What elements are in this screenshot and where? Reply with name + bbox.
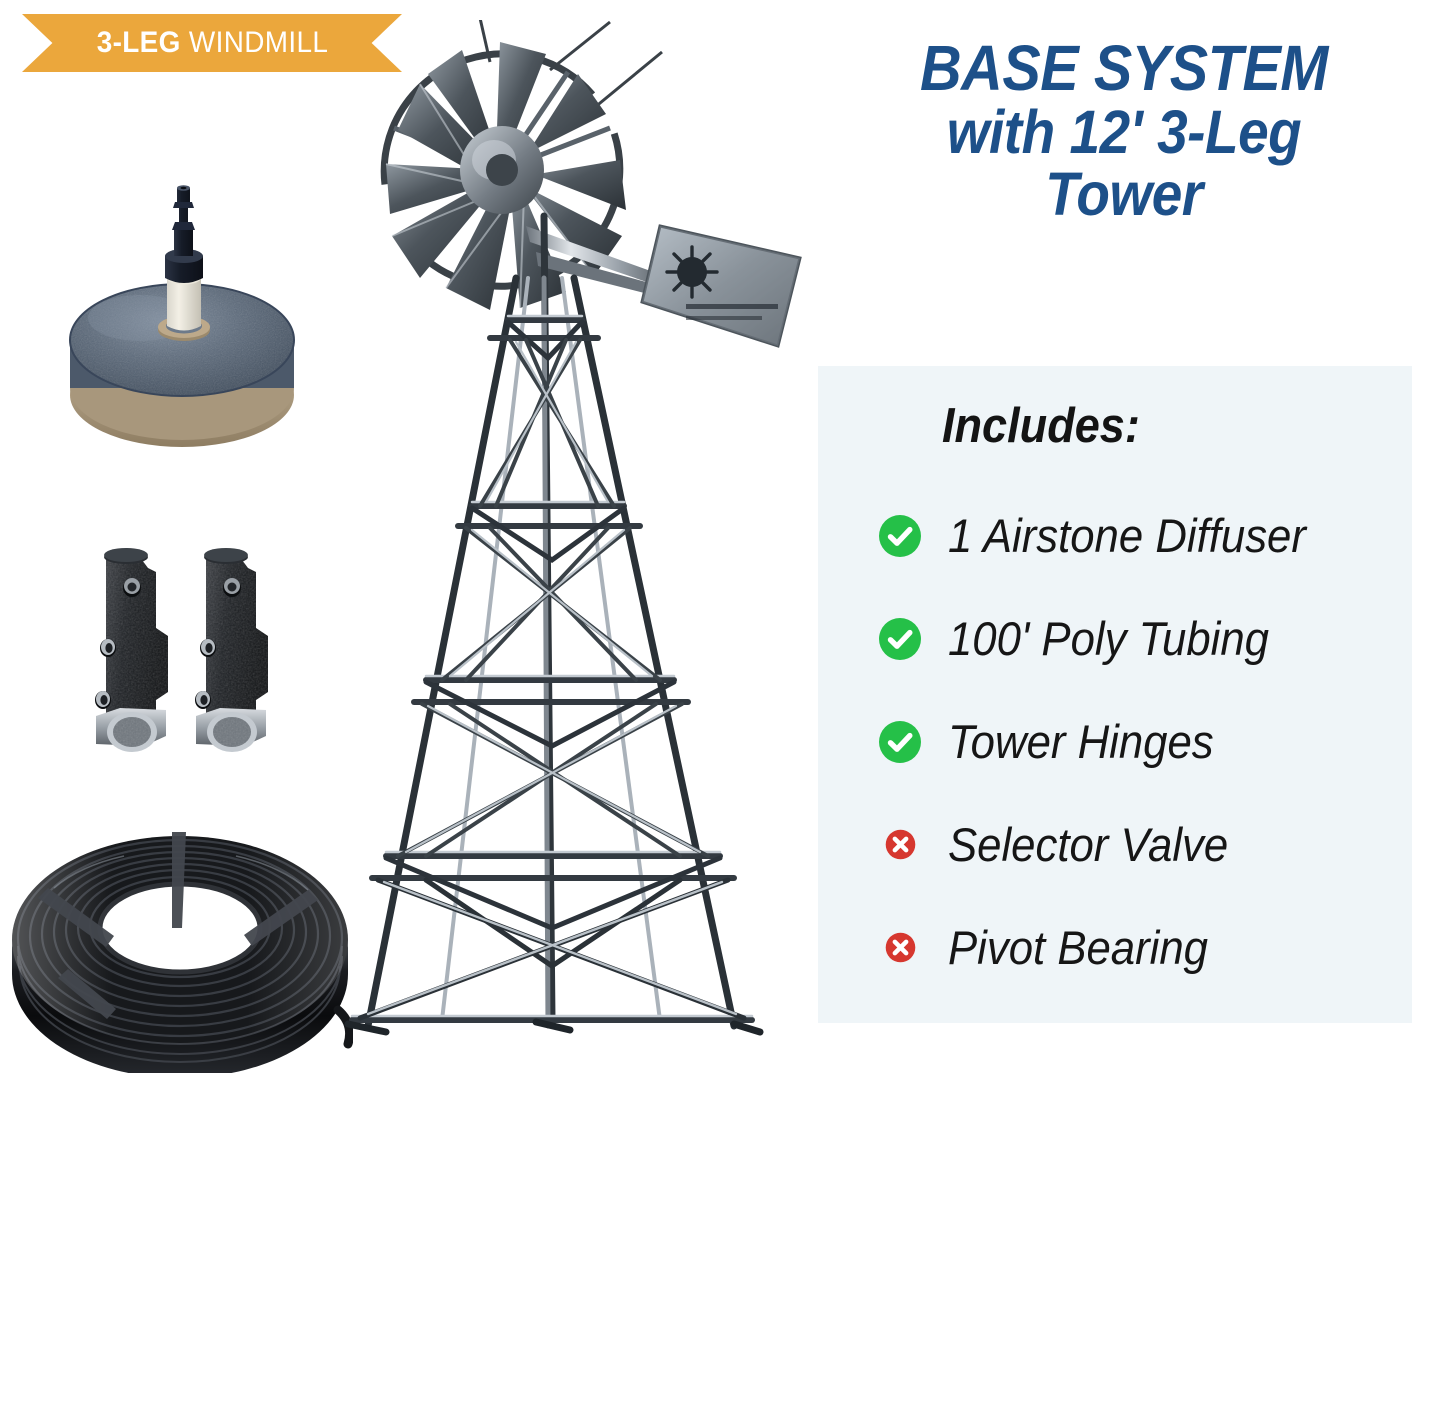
page-title-line-3: Tower xyxy=(850,163,1397,225)
badge-prefix: 3-LEG xyxy=(96,26,180,59)
poly-tubing-coil-photo xyxy=(8,828,353,1073)
product-type-badge-label: 3-LEG WINDMILL xyxy=(96,26,328,60)
x-circle-icon xyxy=(885,829,916,860)
badge-suffix: WINDMILL xyxy=(188,26,327,59)
list-item-label: 100' Poly Tubing xyxy=(948,615,1269,662)
windmill-tower-photo xyxy=(330,20,830,1080)
check-circle-icon xyxy=(878,514,922,558)
tower-hinges-photo xyxy=(70,540,300,770)
list-item-label: Tower Hinges xyxy=(948,718,1214,765)
page-title-line-2: with 12' 3-Leg xyxy=(850,101,1397,163)
includes-list: 1 Airstone Diffuser 100' Poly Tubing Tow… xyxy=(818,484,1412,999)
list-item-label: Pivot Bearing xyxy=(948,924,1208,971)
airstone-diffuser-photo xyxy=(32,160,332,480)
list-item: 1 Airstone Diffuser xyxy=(818,484,1412,587)
list-item-label: Selector Valve xyxy=(948,821,1228,868)
list-item: Selector Valve xyxy=(818,793,1412,896)
list-item: Tower Hinges xyxy=(818,690,1412,793)
page-title: BASE SYSTEM with 12' 3-Leg Tower xyxy=(820,36,1428,226)
list-item-label: 1 Airstone Diffuser xyxy=(948,512,1306,559)
check-circle-icon xyxy=(878,720,922,764)
includes-panel: Includes: 1 Airstone Diffuser 100' Poly … xyxy=(818,366,1412,1023)
check-circle-icon xyxy=(878,617,922,661)
list-item: Pivot Bearing xyxy=(818,896,1412,999)
page-title-line-1: BASE SYSTEM xyxy=(850,36,1397,101)
includes-heading: Includes: xyxy=(942,402,1140,451)
x-circle-icon xyxy=(885,932,916,963)
list-item: 100' Poly Tubing xyxy=(818,587,1412,690)
